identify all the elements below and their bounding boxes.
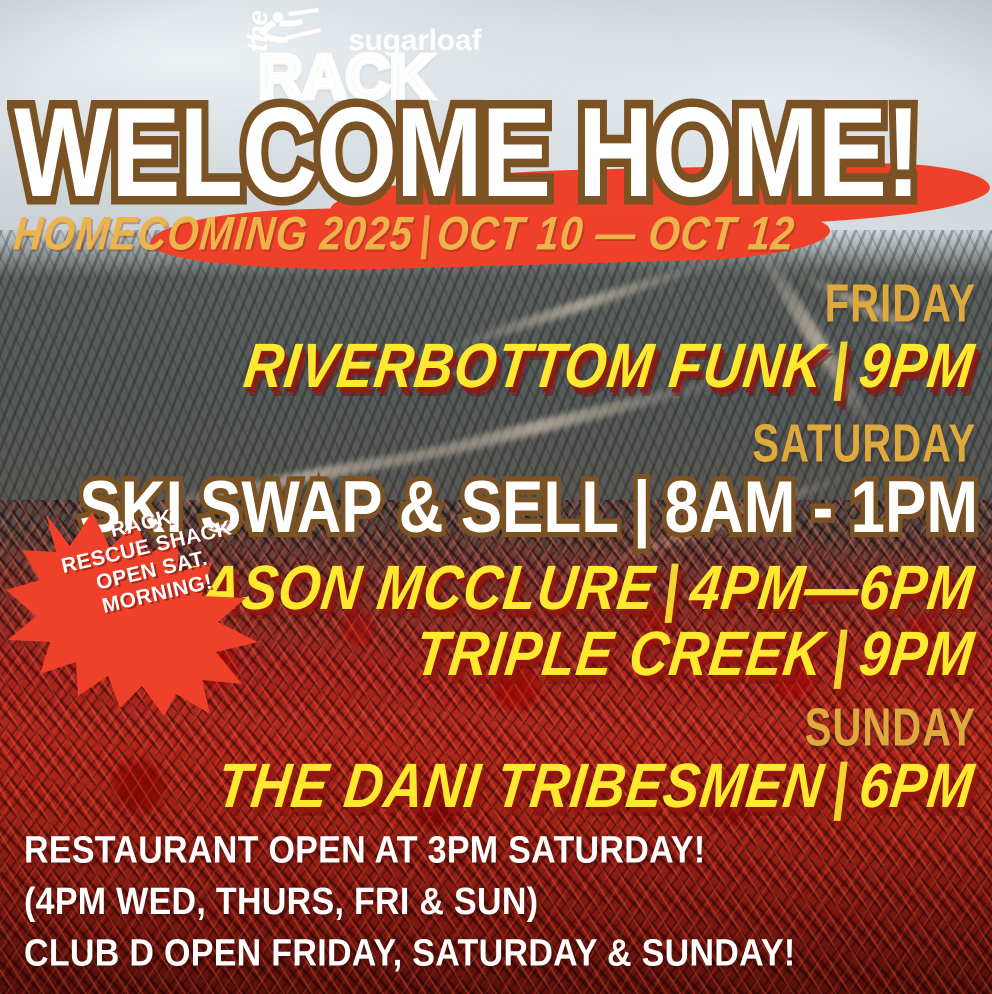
- event-row-riverbottom-funk: RIVERBOTTOM FUNK|9PM: [240, 330, 978, 402]
- rack-rescue-shack-badge: RACK RESCUE SHACK OPEN SAT. MORNING!: [6, 506, 262, 716]
- footer-line-2: (4PM WED, THURS, FRI & SUN): [24, 877, 964, 928]
- event-row-the-dani-tribesmen: THE DANI TRIBESMEN|6PM: [213, 750, 978, 822]
- event-time: 8AM - 1PM: [665, 467, 978, 548]
- footer-line-3: CLUB D OPEN FRIDAY, SATURDAY & SUNDAY!: [24, 929, 964, 980]
- headline-welcome-home: WELCOME HOME!: [14, 96, 974, 213]
- footer-line-1: RESTAURANT OPEN AT 3PM SATURDAY!: [24, 826, 964, 877]
- subheadline: HOMECOMING 2025|OCT 10 — OCT 12: [11, 208, 916, 261]
- event-time: 9PM: [855, 619, 977, 689]
- event-row-triple-creek: TRIPLE CREEK|9PM: [411, 618, 978, 690]
- poster: the sugarloaf RACK WELCOME HOME! HOMECOM…: [0, 0, 992, 994]
- event-time: 6PM: [855, 751, 977, 821]
- event-separator: |: [619, 467, 664, 548]
- event-name: TRIPLE CREEK: [411, 619, 827, 689]
- event-name: HOMECOMING 2025: [11, 208, 415, 260]
- event-name: THE DANI TRIBESMEN: [213, 751, 827, 821]
- footer-hours: RESTAURANT OPEN AT 3PM SATURDAY! (4PM WE…: [24, 826, 964, 980]
- event-row-jason-mcclure: JASON MCCLURE|4PM—6PM: [166, 552, 978, 624]
- event-name: RIVERBOTTOM FUNK: [240, 331, 827, 401]
- event-time: 4PM—6PM: [686, 553, 978, 623]
- day-label-friday: FRIDAY: [825, 274, 976, 335]
- event-dates: OCT 10 — OCT 12: [435, 208, 797, 260]
- event-time: 9PM: [855, 331, 977, 401]
- subheadline-separator: |: [411, 208, 440, 260]
